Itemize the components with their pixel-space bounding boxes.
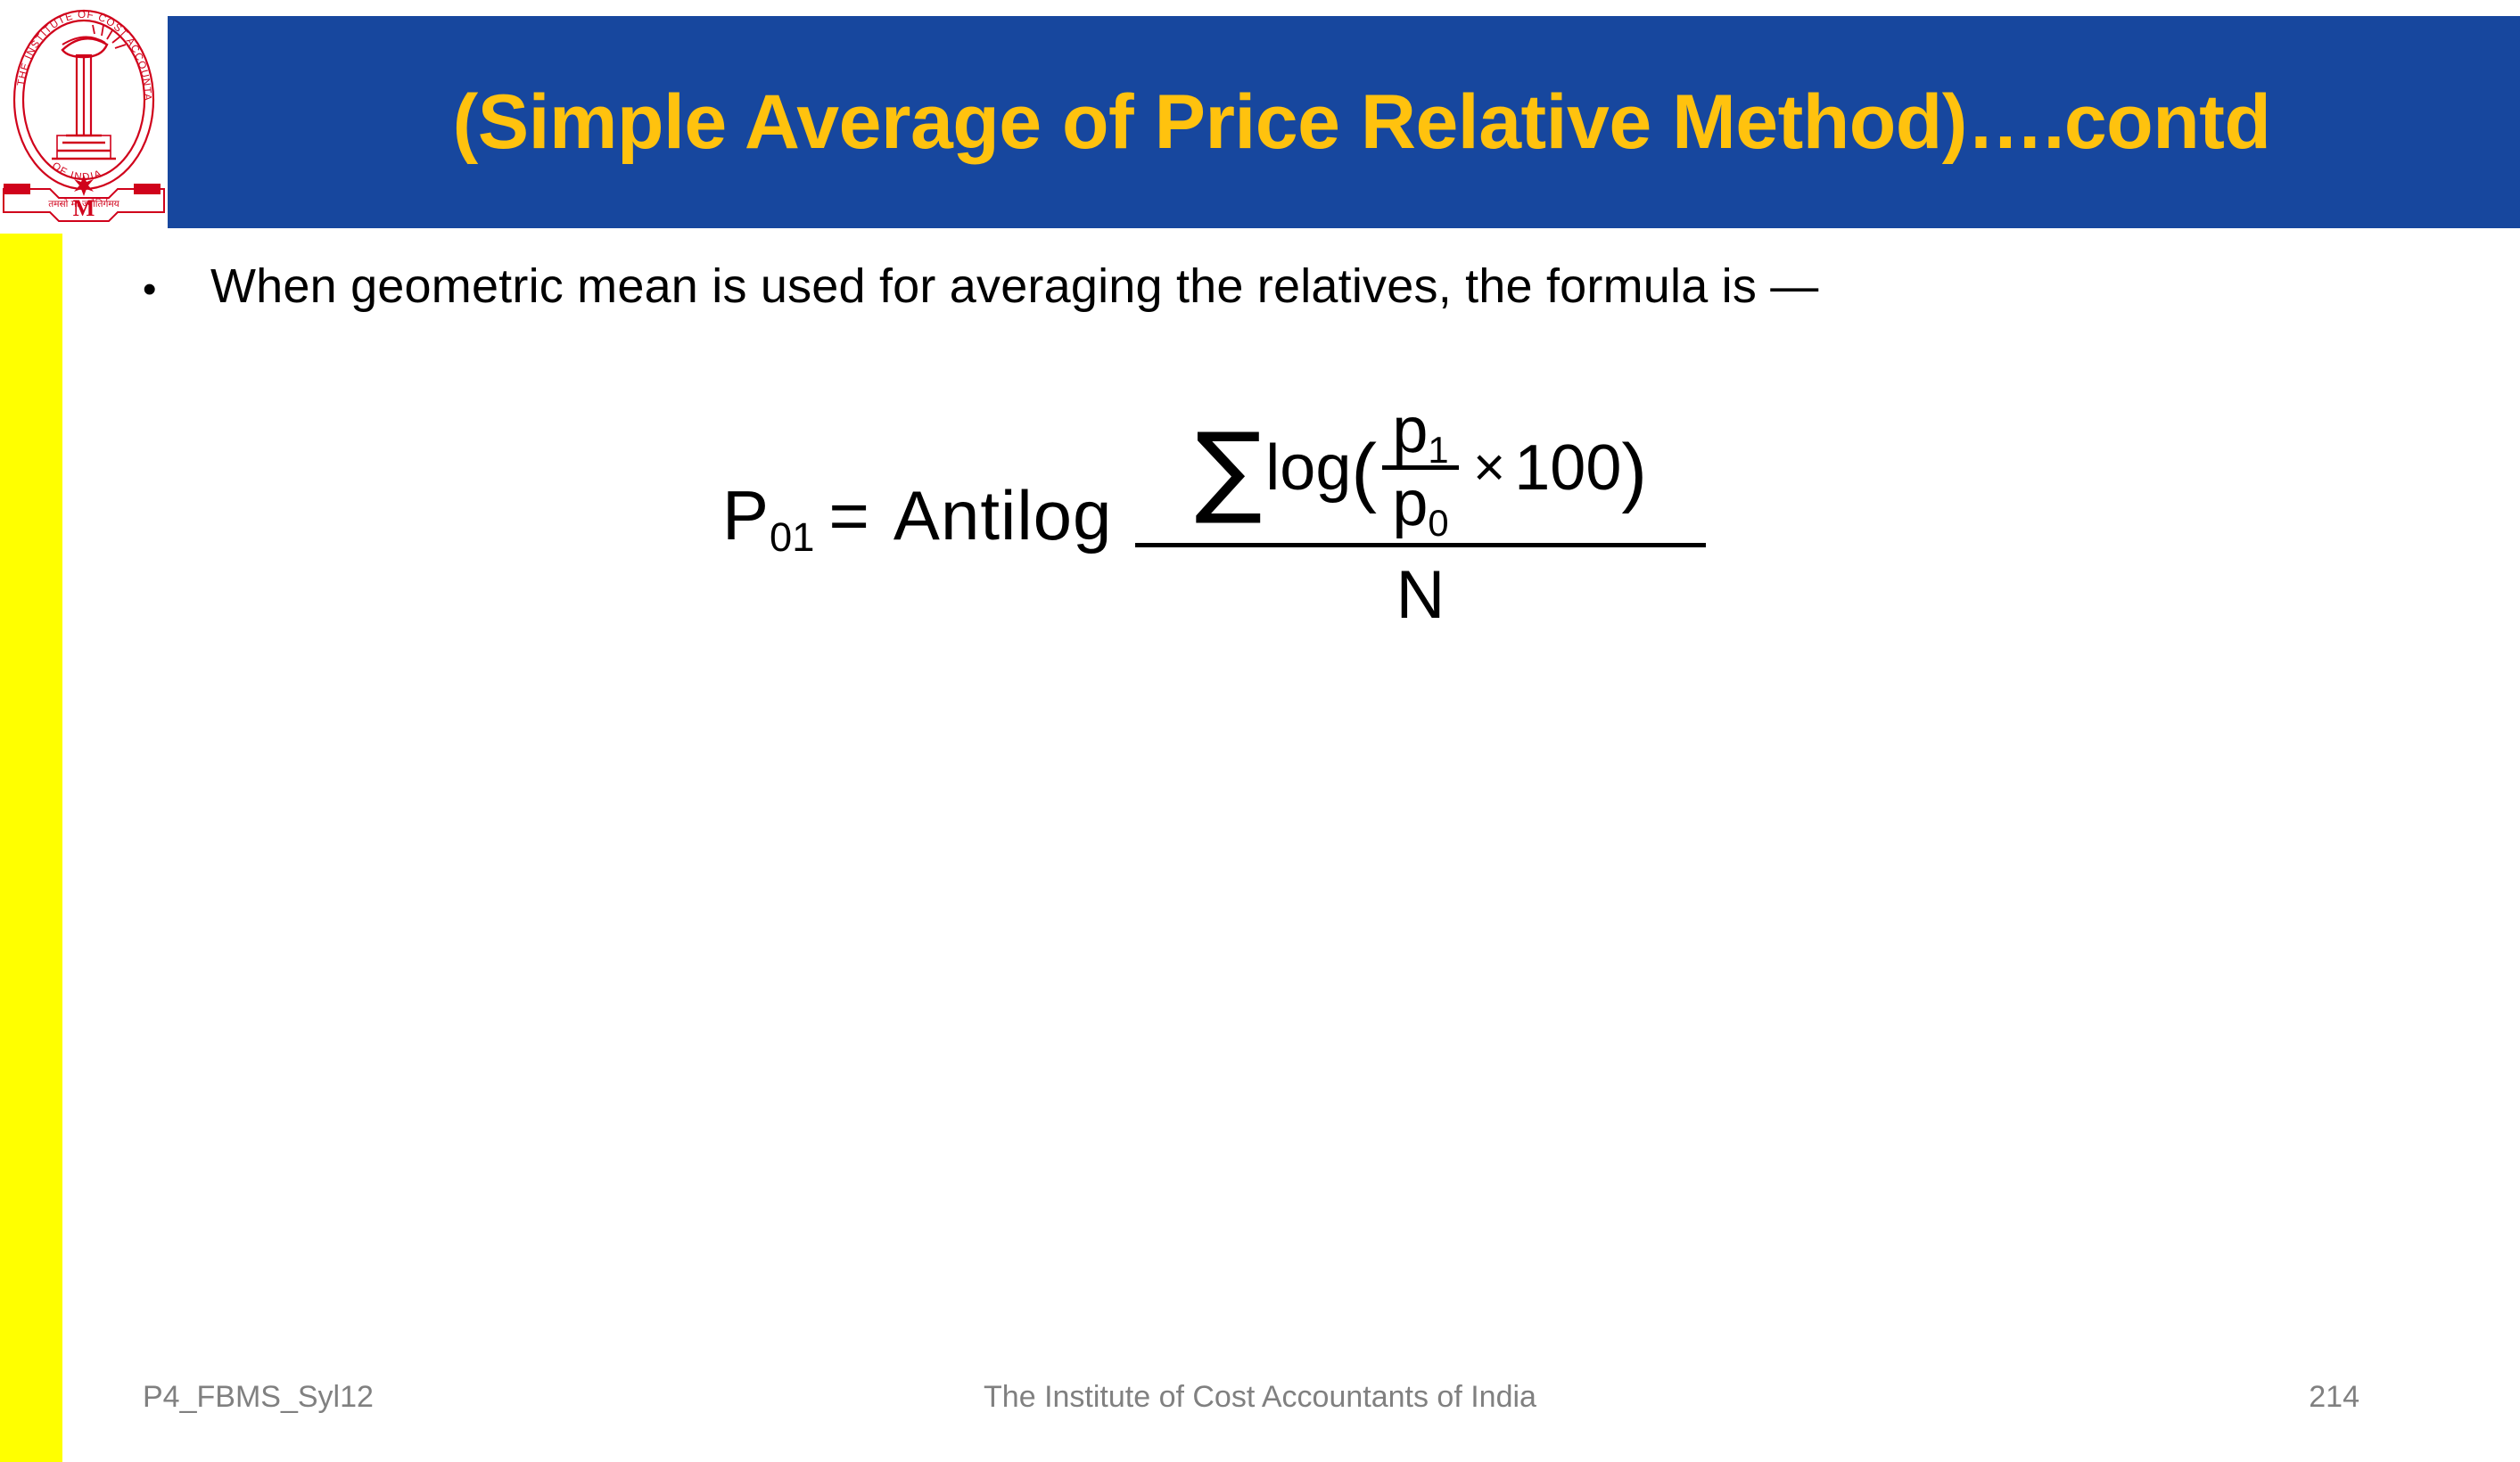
formula-outer-fraction: ∑ log ( p1 p0 × 100 ) N (1135, 398, 1706, 634)
summation-sigma-icon: ∑ (1195, 432, 1262, 507)
formula-p-subscript: 01 (770, 514, 814, 561)
footer-organization-name: The Institute of Cost Accountants of Ind… (0, 1380, 2520, 1415)
formula-antilog-word: Antilog (894, 475, 1113, 556)
formula-close-paren: ) (1621, 441, 1647, 503)
svg-text:M: M (73, 195, 95, 221)
formula-geometric-mean-price-relative: P01 = Antilog ∑ log ( p1 p0 × (722, 398, 1706, 634)
formula-left-hand-side: P01 = Antilog (722, 475, 1112, 556)
formula-factor-100: 100 (1514, 431, 1621, 505)
formula-inner-denominator: p0 (1383, 472, 1457, 537)
formula-open-paren: ( (1351, 441, 1377, 503)
slide-content: • When geometric mean is used for averag… (62, 234, 2520, 1462)
formula-p-symbol: P (722, 475, 770, 556)
left-accent-strip (0, 234, 62, 1462)
formula-p1-symbol: p (1392, 398, 1428, 464)
formula-inner-fraction: p1 p0 (1382, 398, 1459, 538)
institute-logo-svg: THE INSTITUTE OF COST ACCOUNTANTS OF IND… (0, 0, 168, 234)
slide-footer: P4_FBMS_Syl12 The Institute of Cost Acco… (0, 1355, 2520, 1462)
page-title: (Simple Average of Price Relative Method… (168, 16, 2520, 228)
bullet-text: When geometric mean is used for averagin… (210, 259, 1818, 314)
formula-p0-subscript: 0 (1428, 505, 1448, 543)
bullet-marker: • (143, 270, 210, 309)
formula-denominator-N: N (1396, 547, 1445, 634)
institute-logo: THE INSTITUTE OF COST ACCOUNTANTS OF IND… (0, 0, 168, 234)
formula-equals-sign: = (828, 475, 870, 556)
slide-header-band: (Simple Average of Price Relative Method… (168, 16, 2520, 228)
formula-p1-subscript: 1 (1428, 431, 1448, 470)
footer-page-number: 214 (2309, 1380, 2359, 1415)
svg-text:OF INDIA: OF INDIA (50, 160, 104, 183)
formula-multiplication-sign: × (1473, 436, 1505, 499)
list-item: • When geometric mean is used for averag… (143, 259, 1818, 314)
formula-numerator: ∑ log ( p1 p0 × 100 ) (1175, 398, 1667, 543)
formula-inner-numerator: p1 (1383, 398, 1457, 464)
formula-p0-symbol: p (1392, 472, 1428, 537)
formula-log-word: log (1265, 431, 1351, 505)
